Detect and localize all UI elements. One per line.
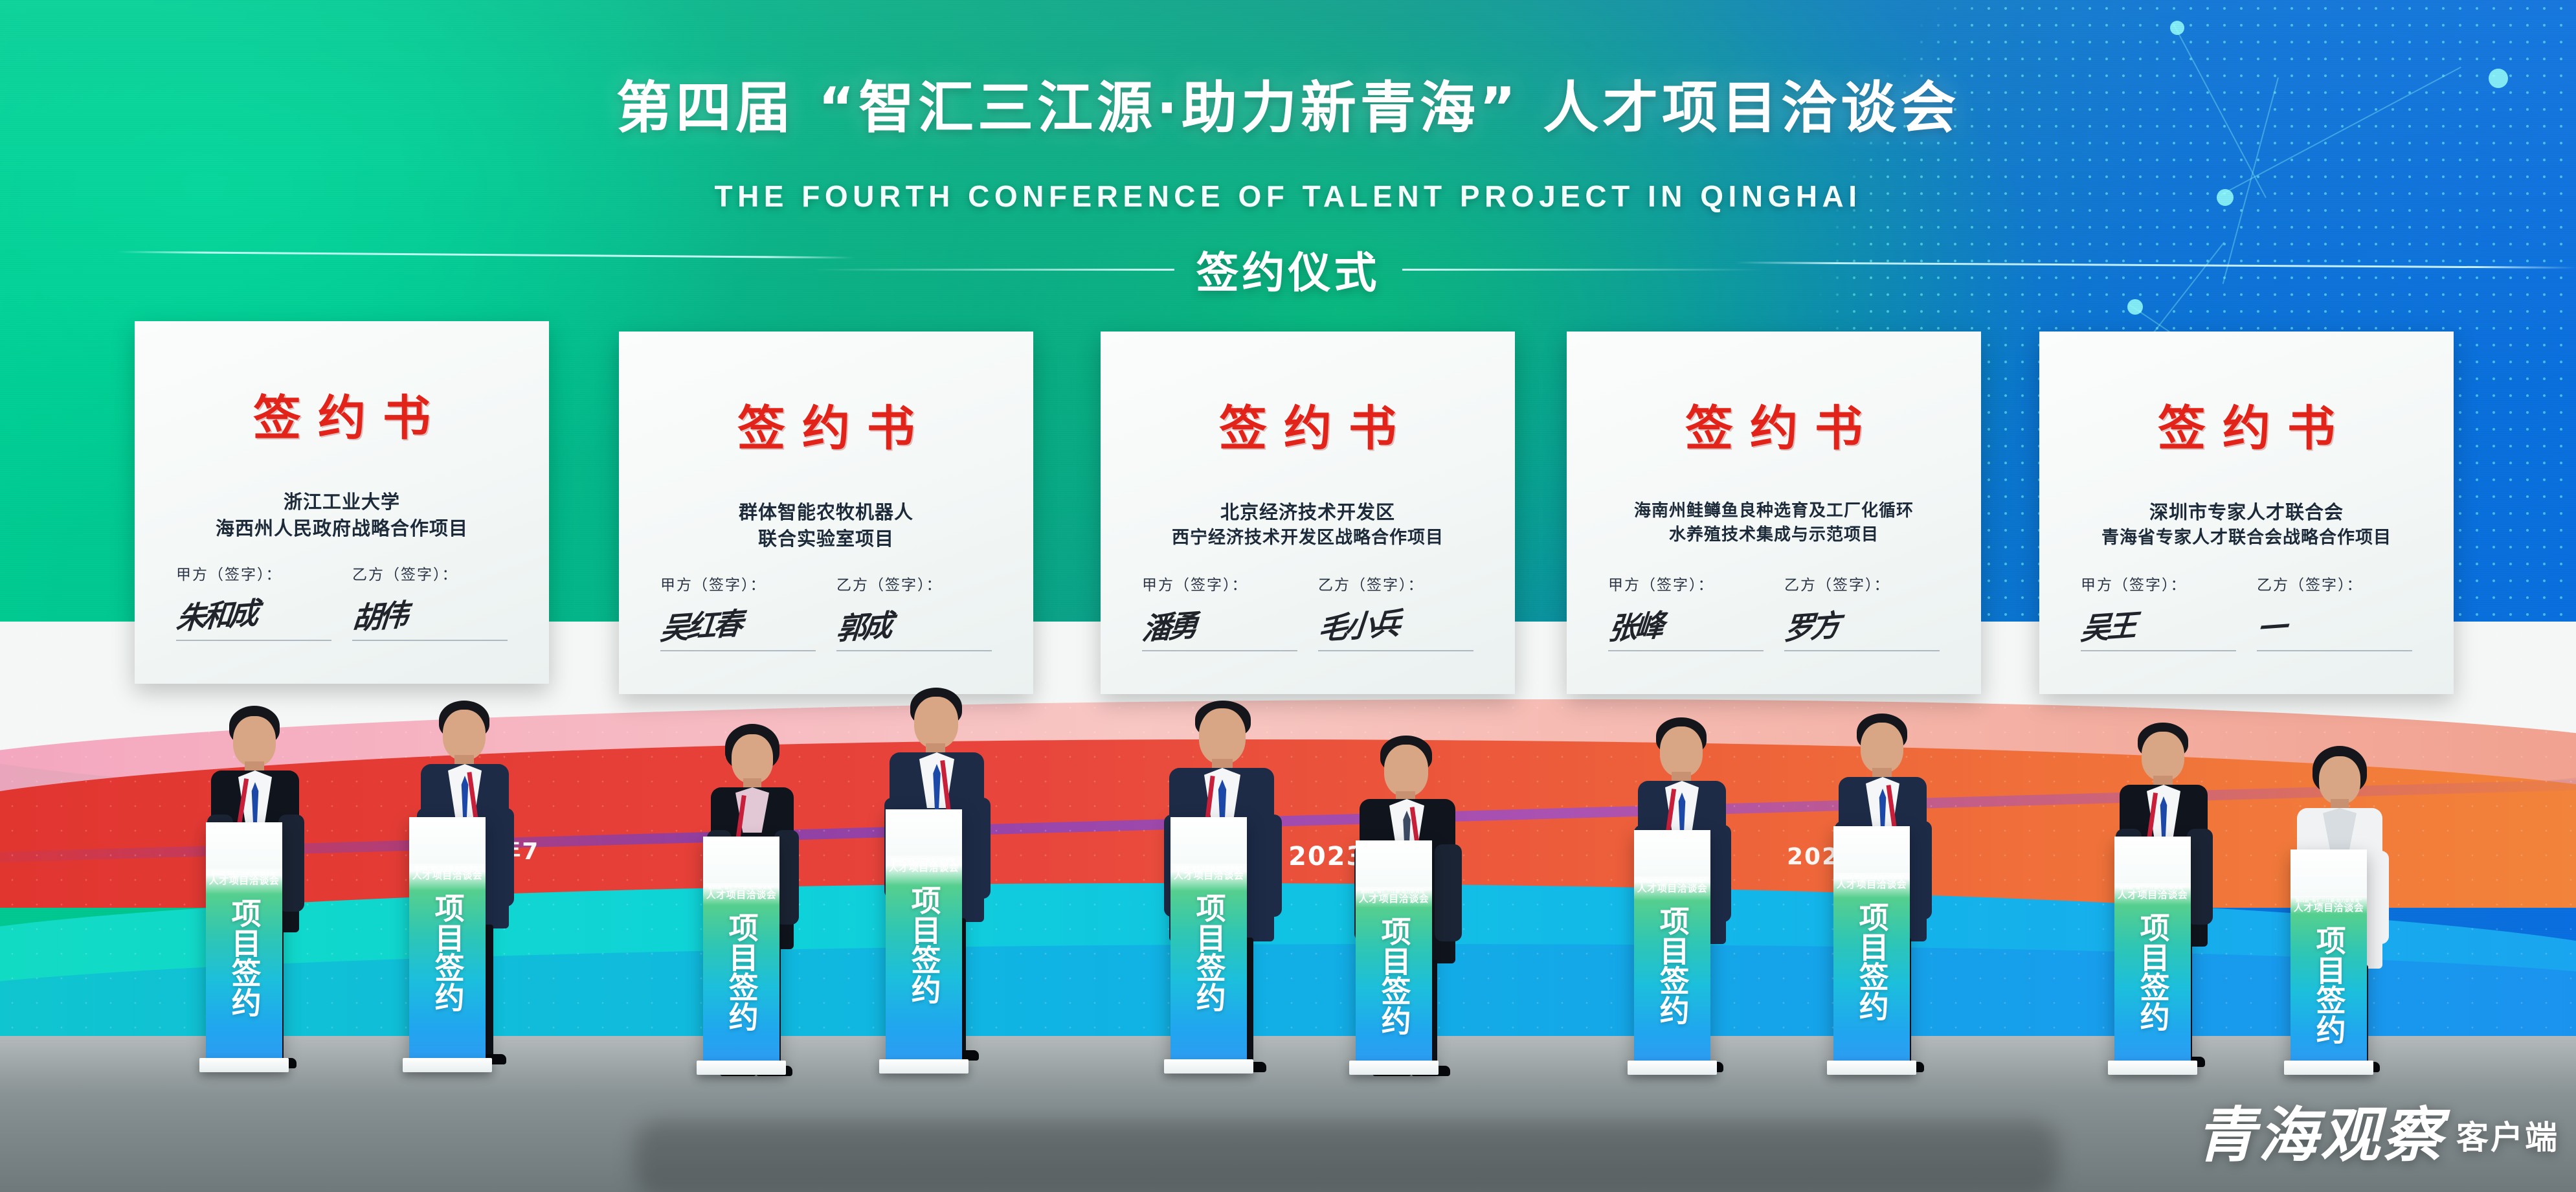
signing-podium: 第四届“智汇三江源·助力新青海” 人才项目洽谈会 项目签约: [206, 822, 282, 1062]
signing-podium: 第四届“智汇三江源·助力新青海” 人才项目洽谈会 项目签约: [1833, 826, 1910, 1064]
head: [914, 697, 958, 748]
party-a-column: 甲方（签字）： 朱和成: [176, 562, 331, 641]
podium-top-panel: [703, 837, 779, 883]
party-a-label: 甲方（签字）：: [1142, 572, 1297, 594]
podium-base: [1827, 1061, 1916, 1075]
podium-header-small: 第四届“智汇三江源·助力新青海”: [206, 872, 282, 876]
signing-podium: 第四届“智汇三江源·助力新青海” 人才项目洽谈会 项目签约: [409, 817, 486, 1062]
signing-podium: 第四届“智汇三江源·助力新青海” 人才项目洽谈会 项目签约: [1634, 830, 1710, 1064]
podium-top-panel: [886, 809, 962, 856]
podium-header-small: 第四届“智汇三江源·助力新青海”: [409, 866, 486, 871]
board-project-line2: 水养殖技术集成与示范项目: [1574, 523, 1973, 547]
head: [1199, 708, 1246, 764]
podium-header: 第四届“智汇三江源·助力新青海” 人才项目洽谈会: [409, 866, 486, 881]
signing-board: 签约书 深圳市专家人才联合会 青海省专家人才联合会战略合作项目 甲方（签字）： …: [2039, 332, 2454, 694]
podium-vertical-text: 项目签约: [1191, 893, 1226, 1012]
party-b-column: 乙方（签字）： 郭成: [836, 572, 992, 651]
signature-line: [352, 640, 508, 641]
podium-base: [2284, 1061, 2373, 1075]
party-b-signature: 一: [2255, 592, 2414, 654]
party-b-label: 乙方（签字）：: [1784, 572, 1940, 594]
podium-header: 第四届“智汇三江源·助力新青海” 人才项目洽谈会: [1356, 890, 1432, 905]
party-b-signature: 罗方: [1782, 592, 1942, 654]
podium-header-small: 第四届“智汇三江源·助力新青海”: [2114, 886, 2191, 890]
board-project-name: 海南州鲑鳟鱼良种选育及工厂化循环 水养殖技术集成与示范项目: [1567, 499, 1981, 547]
signature-line: [1784, 650, 1940, 651]
podium-header-small: 第四届“智汇三江源·助力新青海”: [1833, 875, 1910, 880]
podium-top-panel: [409, 817, 486, 864]
board-project-name: 群体智能农牧机器人 联合实验室项目: [619, 499, 1033, 552]
signing-podium: 第四届“智汇三江源·助力新青海” 人才项目洽谈会 项目签约: [886, 809, 962, 1063]
party-b-label: 乙方（签字）：: [2257, 572, 2412, 594]
board-project-name: 深圳市专家人才联合会 青海省专家人才联合会战略合作项目: [2039, 499, 2454, 551]
party-b-label: 乙方（签字）：: [836, 572, 992, 594]
arm: [278, 815, 304, 912]
podium-base: [1164, 1059, 1253, 1074]
arm: [488, 808, 514, 906]
party-a-signature: 潘勇: [1140, 592, 1299, 654]
board-heading: 签约书: [135, 379, 549, 449]
watermark-suffix: 客户端: [2456, 1112, 2559, 1164]
party-a-signature: 吴王: [2079, 592, 2238, 654]
signing-board: 签约书 浙江工业大学 海西州人民政府战略合作项目 甲方（签字）： 朱和成 乙方（…: [135, 321, 549, 684]
podium-base: [1349, 1061, 1439, 1075]
podium-header-main: 人才项目洽谈会: [889, 862, 959, 873]
board-project-line2: 海西州人民政府战略合作项目: [142, 515, 541, 542]
head: [732, 734, 773, 783]
podium-header-small: 第四届“智汇三江源·助力新青海”: [886, 859, 962, 863]
podium-base: [697, 1061, 786, 1075]
board-project-line1: 浙江工业大学: [142, 489, 541, 515]
party-b-signature: 胡伟: [350, 582, 510, 644]
party-a-column: 甲方（签字）： 潘勇: [1142, 572, 1297, 651]
podium-header: 第四届“智汇三江源·助力新青海” 人才项目洽谈会: [2290, 899, 2367, 914]
podium-base: [1628, 1061, 1717, 1075]
board-project-name: 北京经济技术开发区 西宁经济技术开发区战略合作项目: [1101, 499, 1515, 551]
signing-board: 签约书 海南州鲑鳟鱼良种选育及工厂化循环 水养殖技术集成与示范项目 甲方（签字）…: [1567, 332, 1981, 694]
board-project-line1: 海南州鲑鳟鱼良种选育及工厂化循环: [1574, 499, 1973, 523]
signature-line: [2081, 650, 2236, 651]
podium-header-main: 人才项目洽谈会: [1837, 879, 1907, 890]
podium-header: 第四届“智汇三江源·助力新青海” 人才项目洽谈会: [1634, 879, 1710, 894]
board-project-line2: 联合实验室项目: [627, 526, 1025, 552]
signature-row: 甲方（签字）： 潘勇 乙方（签字）： 毛小兵: [1101, 572, 1515, 651]
party-a-signature: 朱和成: [174, 582, 333, 644]
podium-vertical-text: 项目签约: [430, 893, 464, 1012]
signature-line: [1318, 650, 1473, 651]
podium-header-main: 人才项目洽谈会: [2294, 902, 2364, 914]
party-b-label: 乙方（签字）：: [1318, 572, 1473, 594]
podium-vertical-text: 项目签约: [906, 885, 941, 1004]
board-heading: 签约书: [1567, 390, 1981, 459]
podium-header-main: 人才项目洽谈会: [1359, 893, 1429, 905]
party-b-signature: 毛小兵: [1316, 592, 1475, 654]
party-a-column: 甲方（签字）： 吴红春: [660, 572, 816, 651]
board-project-line2: 青海省专家人才联合会战略合作项目: [2047, 526, 2446, 550]
signing-podium: 第四届“智汇三江源·助力新青海” 人才项目洽谈会 项目签约: [2290, 849, 2367, 1064]
podium-header: 第四届“智汇三江源·助力新青海” 人才项目洽谈会: [206, 872, 282, 886]
signature-row: 甲方（签字）： 朱和成 乙方（签字）： 胡伟: [135, 562, 549, 641]
podium-top-panel: [1170, 817, 1247, 864]
signing-board: 签约书 群体智能农牧机器人 联合实验室项目 甲方（签字）： 吴红春 乙方（签字）…: [619, 332, 1033, 694]
podium-top-panel: [2290, 849, 2367, 896]
head: [1660, 726, 1703, 777]
party-b-column: 乙方（签字）： 胡伟: [352, 562, 508, 641]
arm: [2364, 851, 2389, 944]
podium-vertical-text: 项目签约: [227, 898, 261, 1017]
board-heading: 签约书: [1101, 390, 1515, 459]
party-a-label: 甲方（签字）：: [2081, 572, 2236, 594]
party-b-column: 乙方（签字）： 罗方: [1784, 572, 1940, 651]
party-b-signature: 郭成: [834, 592, 994, 654]
party-a-signature: 张峰: [1606, 592, 1765, 654]
podium-header-main: 人才项目洽谈会: [1637, 883, 1708, 894]
podium-base: [199, 1058, 289, 1072]
podium-header-small: 第四届“智汇三江源·助力新青海”: [2290, 899, 2367, 903]
podium-header: 第四届“智汇三江源·助力新青海” 人才项目洽谈会: [1833, 875, 1910, 890]
podium-top-panel: [1833, 826, 1910, 873]
podium-top-panel: [1634, 830, 1710, 877]
podium-vertical-text: 项目签约: [1655, 906, 1689, 1025]
arm: [2187, 829, 2213, 925]
podium-header: 第四届“智汇三江源·助力新青海” 人才项目洽谈会: [1170, 866, 1247, 881]
signing-podium: 第四届“智汇三江源·助力新青海” 人才项目洽谈会 项目签约: [1356, 840, 1432, 1064]
podium-vertical-text: 项目签约: [2311, 925, 2346, 1044]
podium-header-small: 第四届“智汇三江源·助力新青海”: [1170, 866, 1247, 871]
podium-header-main: 人才项目洽谈会: [209, 875, 280, 886]
podium-header-small: 第四届“智汇三江源·助力新青海”: [1356, 890, 1432, 894]
podium-header-main: 人才项目洽谈会: [412, 870, 483, 881]
party-a-label: 甲方（签字）：: [660, 572, 816, 594]
podium-base: [879, 1059, 969, 1074]
signature-row: 甲方（签字）： 吴王 乙方（签字）： 一: [2039, 572, 2454, 651]
head: [1861, 723, 1903, 773]
party-b-label: 乙方（签字）：: [352, 562, 508, 584]
signature-row: 甲方（签字）： 张峰 乙方（签字）： 罗方: [1567, 572, 1981, 651]
signing-board: 签约书 北京经济技术开发区 西宁经济技术开发区战略合作项目 甲方（签字）： 潘勇…: [1101, 332, 1515, 694]
podium-top-panel: [206, 822, 282, 869]
party-b-column: 乙方（签字）： 一: [2257, 572, 2412, 651]
signature-line: [836, 650, 992, 651]
podium-header-main: 人才项目洽谈会: [1174, 870, 1244, 881]
board-heading: 签约书: [2039, 390, 2454, 459]
podium-top-panel: [1356, 840, 1432, 887]
arm: [1253, 815, 1282, 917]
board-project-line2: 西宁经济技术开发区战略合作项目: [1108, 526, 1507, 550]
signature-line: [2257, 650, 2412, 651]
podium-header: 第四届“智汇三江源·助力新青海” 人才项目洽谈会: [886, 859, 962, 873]
podium-vertical-text: 项目签约: [1376, 916, 1411, 1035]
podium-header-main: 人才项目洽谈会: [2118, 889, 2188, 901]
party-a-label: 甲方（签字）：: [176, 562, 331, 584]
head: [2142, 732, 2184, 781]
arm: [1906, 821, 1932, 919]
signature-line: [660, 650, 816, 651]
podium-header: 第四届“智汇三江源·助力新青海” 人才项目洽谈会: [703, 886, 779, 901]
podium-vertical-text: 项目签约: [2135, 912, 2169, 1031]
head: [443, 710, 486, 760]
signature-line: [1608, 650, 1764, 651]
party-a-label: 甲方（签字）：: [1608, 572, 1764, 594]
signature-line: [1142, 650, 1297, 651]
podium-header-small: 第四届“智汇三江源·助力新青海”: [703, 886, 779, 890]
watermark-brand: 青海观察: [2196, 1107, 2445, 1164]
podium-header-small: 第四届“智汇三江源·助力新青海”: [1634, 879, 1710, 884]
signing-podium: 第四届“智汇三江源·助力新青海” 人才项目洽谈会 项目签约: [703, 837, 779, 1064]
board-heading: 签约书: [619, 390, 1033, 459]
arm: [963, 798, 991, 899]
board-project-name: 浙江工业大学 海西州人民政府战略合作项目: [135, 489, 549, 542]
signature-row: 甲方（签字）： 吴红春 乙方（签字）： 郭成: [619, 572, 1033, 651]
signing-podium: 第四届“智汇三江源·助力新青海” 人才项目洽谈会 项目签约: [1170, 817, 1247, 1063]
podium-base: [403, 1058, 492, 1072]
party-b-column: 乙方（签字）： 毛小兵: [1318, 572, 1473, 651]
board-project-line1: 群体智能农牧机器人: [627, 499, 1025, 526]
podium-base: [2108, 1061, 2197, 1075]
podium-header: 第四届“智汇三江源·助力新青海” 人才项目洽谈会: [2114, 886, 2191, 901]
podium-header-main: 人才项目洽谈会: [706, 889, 777, 901]
party-a-column: 甲方（签字）： 张峰: [1608, 572, 1764, 651]
signing-podium: 第四届“智汇三江源·助力新青海” 人才项目洽谈会 项目签约: [2114, 837, 2191, 1064]
podium-vertical-text: 项目签约: [724, 912, 758, 1031]
scene-root: 第四届 “智汇三江源·助力新青海” 人才项目洽谈会 THE FOURTH CON…: [0, 0, 2576, 1192]
board-project-line1: 北京经济技术开发区: [1108, 499, 1507, 526]
board-project-line1: 深圳市专家人才联合会: [2047, 499, 2446, 526]
podium-vertical-text: 项目签约: [1854, 902, 1888, 1021]
head: [233, 716, 276, 767]
podium-top-panel: [2114, 837, 2191, 883]
signature-line: [176, 640, 331, 641]
floor-front-shadow: [634, 1121, 2059, 1192]
arm: [1435, 844, 1462, 941]
head: [1384, 745, 1428, 796]
party-a-column: 甲方（签字）： 吴王: [2081, 572, 2236, 651]
party-a-signature: 吴红春: [658, 592, 818, 654]
head: [2319, 756, 2360, 804]
watermark: 青海观察 客户端: [2196, 1107, 2559, 1164]
